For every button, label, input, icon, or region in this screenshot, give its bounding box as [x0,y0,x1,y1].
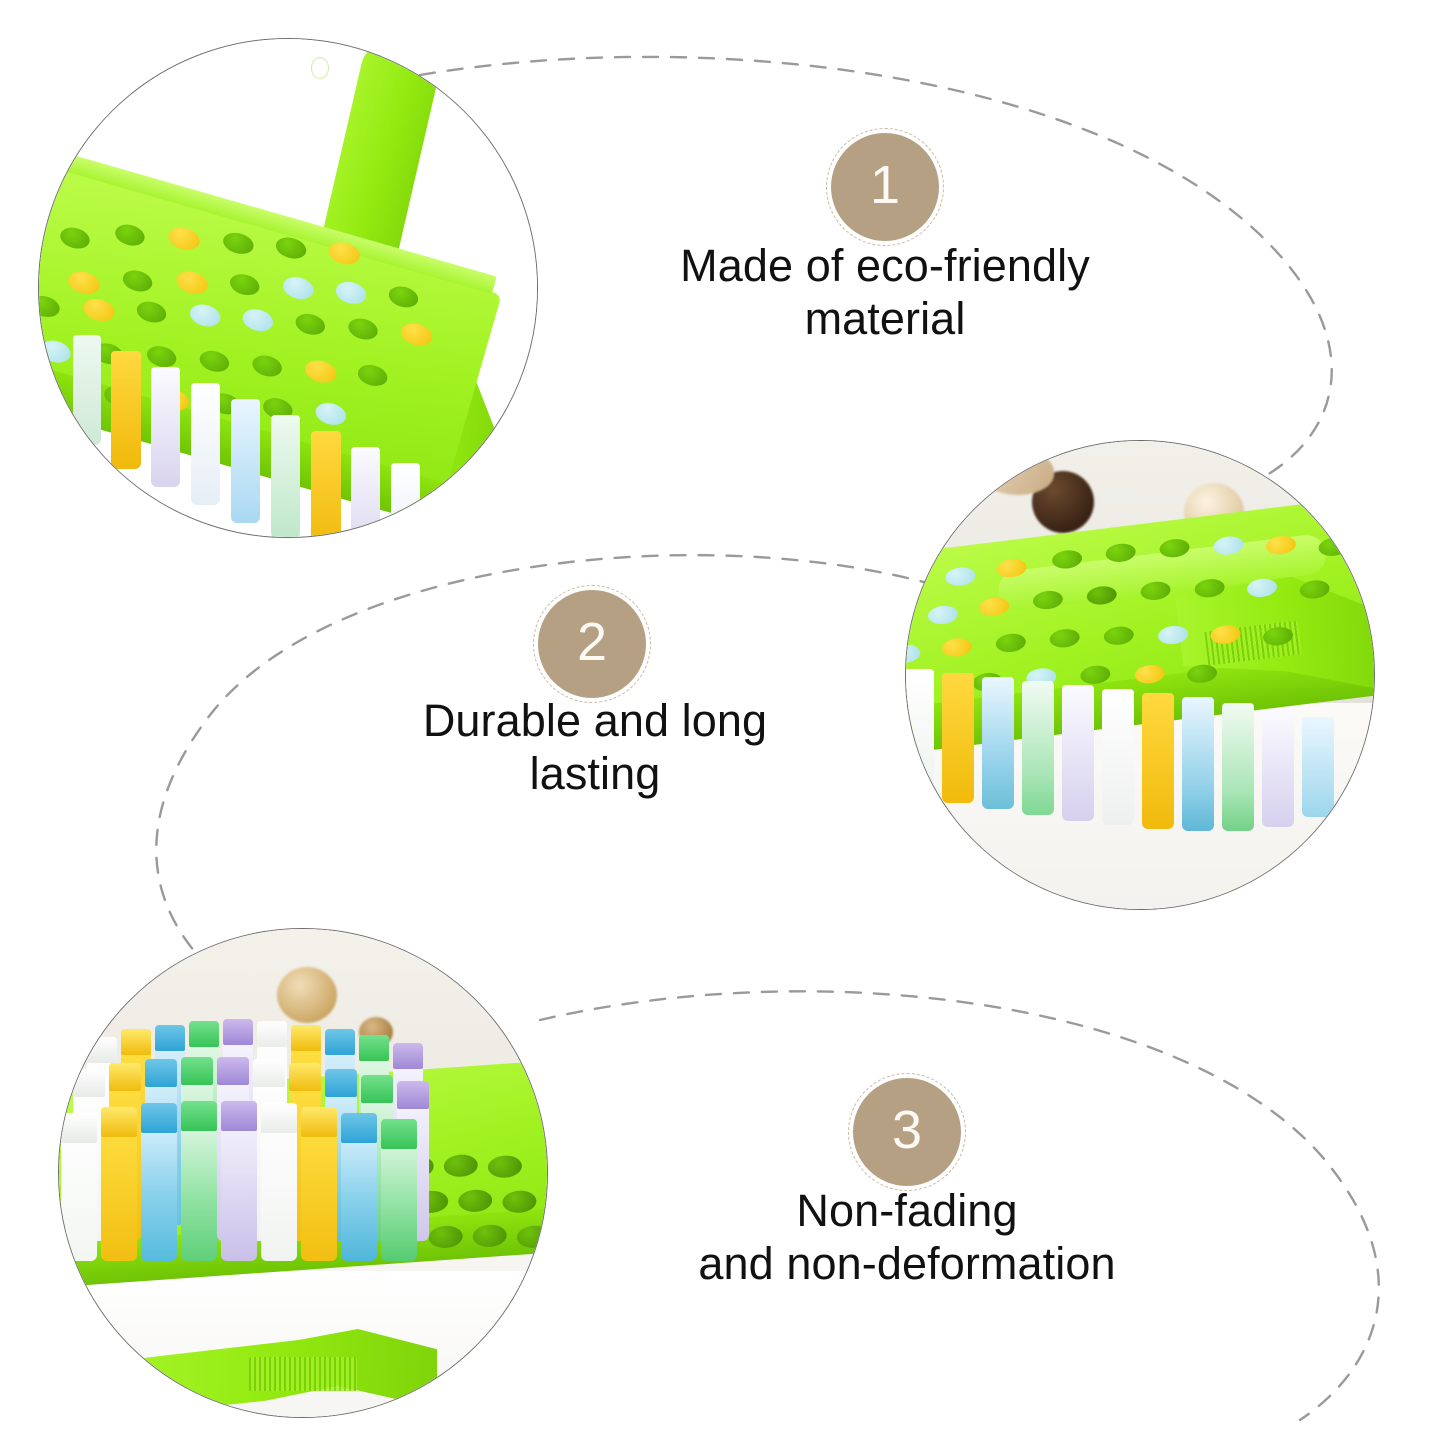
product-photo-2 [905,440,1375,910]
tube-row-1 [39,39,537,537]
feature-badge-2: 2 [538,590,646,698]
feature-badge-1: 1 [831,133,939,241]
handle-grip-3 [249,1357,357,1391]
tube-row-2 [906,441,1374,909]
product-photo-3 [58,928,548,1418]
infographic-canvas: 1 Made of eco-friendly material [0,0,1445,1445]
feature-badge-1-wrap: 1 [826,128,944,246]
product-photo-1 [38,38,538,538]
feature-caption-1: Made of eco-friendly material [590,240,1180,345]
feature-badge-2-wrap: 2 [533,585,651,703]
feature-caption-2: Durable and long lasting [300,695,890,800]
feature-badge-3: 3 [853,1078,961,1186]
feature-badge-3-wrap: 3 [848,1073,966,1191]
feature-caption-3: Non-fading and non-deformation [612,1185,1202,1290]
